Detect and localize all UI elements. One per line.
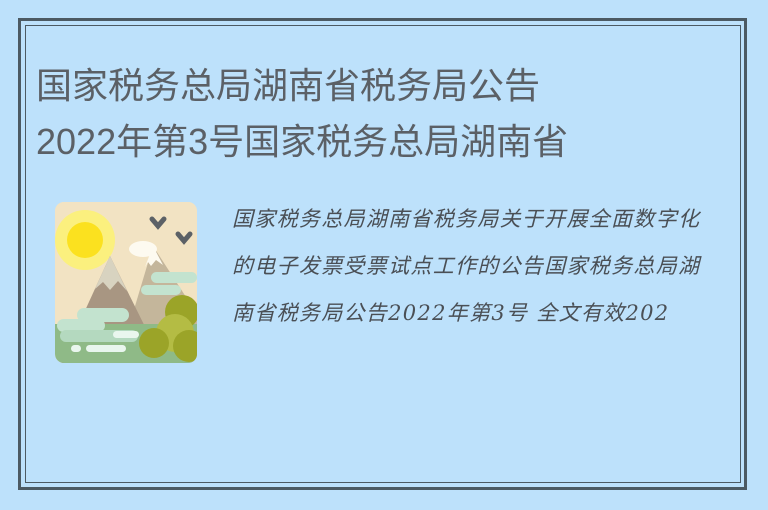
water-highlight-1 <box>113 331 139 338</box>
cloud-right-1 <box>151 272 197 283</box>
water-highlight-2 <box>86 345 126 352</box>
cloud-peak <box>129 241 157 257</box>
page-title-line-1: 国家税务总局湖南省税务局公告 <box>36 58 736 114</box>
landscape-illustration-svg <box>55 202 197 363</box>
water-highlight-3 <box>71 345 81 352</box>
page-title: 国家税务总局湖南省税务局公告 2022年第3号国家税务总局湖南省 <box>36 58 736 170</box>
article-card: 国家税务总局湖南省税务局公告 2022年第3号国家税务总局湖南省 <box>0 0 768 510</box>
sun-core <box>67 222 103 258</box>
article-summary: 国家税务总局湖南省税务局关于开展全面数字化的电子发票受票试点工作的公告国家税务总… <box>232 196 702 446</box>
tree-dark-2 <box>139 328 169 358</box>
page-title-line-2: 2022年第3号国家税务总局湖南省 <box>36 114 736 170</box>
cloud-right-2 <box>141 285 181 295</box>
landscape-illustration-icon <box>55 202 197 363</box>
